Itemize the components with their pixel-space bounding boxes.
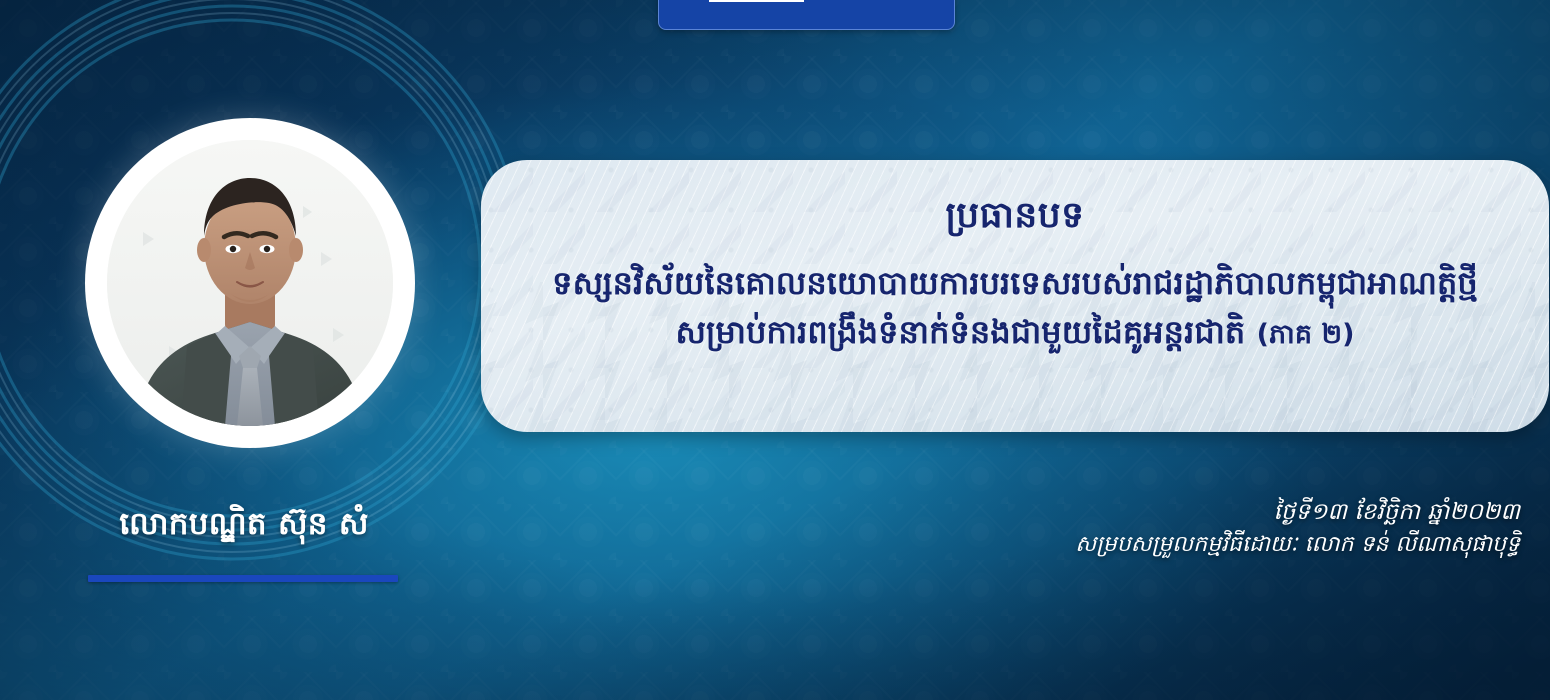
speaker-name: លោកបណ្ឌិត ស៊ុន សំ (88, 505, 400, 544)
speaker-name-underline (88, 575, 398, 582)
portrait-photo (107, 140, 393, 426)
slide-meta: ថ្ងៃទី១៣ ខែវិច្ឆិកា ឆ្នាំ២០២៣ សម្របសម្រួ… (800, 496, 1520, 561)
program-host: សម្របសម្រួលកម្មវិធីដោយៈ លោក ទន់ លីណាសុផា… (800, 529, 1520, 561)
top-banner-bar-left (709, 0, 804, 2)
top-banner-bars (709, 0, 917, 2)
presentation-slide: លោកបណ្ឌិត ស៊ុន សំ ប្រធានបទ ទស្សនវិស័យនៃគ… (0, 0, 1550, 700)
title-part-label: (ភាគ ២) (1257, 319, 1355, 350)
title-line-2: សម្រាប់ការពង្រឹងទំនាក់ទំនងជាមួយដៃគូអន្តរ… (527, 308, 1503, 357)
title-line-1: ទស្សនវិស័យនៃគោលនយោបាយការបរទេសរបស់រាជរដ្ឋ… (527, 259, 1503, 308)
top-banner-box[interactable] (658, 0, 955, 30)
broadcast-date: ថ្ងៃទី១៣ ខែវិច្ឆិកា ឆ្នាំ២០២៣ (800, 496, 1520, 529)
speaker-portrait (85, 118, 415, 448)
topic-kicker: ប្រធានបទ (527, 194, 1503, 237)
title-card: ប្រធានបទ ទស្សនវិស័យនៃគោលនយោបាយការបរទេសរប… (481, 160, 1549, 432)
title-line-2-main: សម្រាប់ការពង្រឹងទំនាក់ទំនងជាមួយដៃគូអន្តរ… (675, 313, 1256, 351)
